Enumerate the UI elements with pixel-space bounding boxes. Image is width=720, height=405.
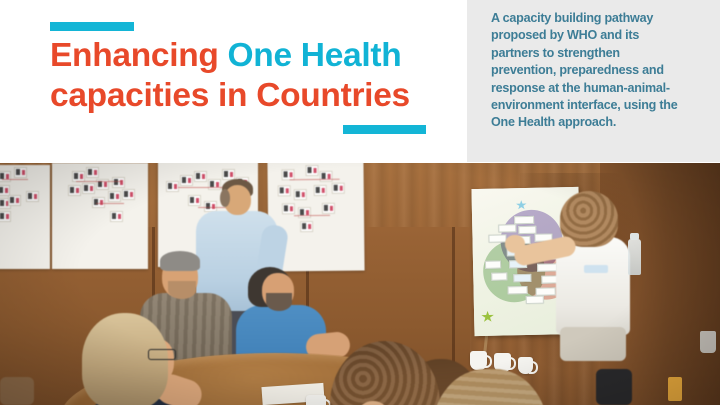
coffee-mug	[518, 357, 533, 374]
accent-bar-top	[50, 22, 134, 31]
striped-shirt-chin	[168, 281, 196, 299]
summary-text: A capacity building pathway proposed by …	[491, 9, 688, 131]
striped-shirt-hair	[160, 251, 200, 271]
summary-panel: A capacity building pathway proposed by …	[467, 0, 720, 162]
title-block: Enhancing One Health capacities in Count…	[50, 0, 450, 163]
chair	[0, 377, 34, 405]
poster-page: Enhancing One Health capacities in Count…	[0, 0, 720, 405]
chair	[596, 369, 632, 405]
presenter-skirt	[560, 327, 626, 361]
accent-bar-bottom	[343, 125, 426, 134]
coffee-mug	[306, 395, 326, 405]
coffee-mug	[470, 351, 487, 370]
page-title-line-1: Enhancing One Health	[50, 36, 450, 76]
presenter-hand	[505, 235, 525, 253]
sticky-note	[536, 287, 556, 295]
drinking-glass	[700, 331, 716, 353]
juice-glass	[668, 377, 682, 401]
sticky-note	[485, 261, 501, 269]
header-band: Enhancing One Health capacities in Count…	[0, 0, 720, 163]
standing-man-hair-side	[220, 189, 230, 207]
water-bottle	[628, 239, 641, 275]
flipchart-sheet	[0, 165, 50, 269]
sticky-note	[514, 216, 534, 224]
page-title: Enhancing One Health capacities in Count…	[50, 36, 450, 116]
page-title-line-1-orange: Enhancing	[50, 37, 228, 74]
workshop-photo	[0, 163, 720, 405]
presenter-badge	[584, 265, 608, 273]
sticky-note	[488, 234, 506, 242]
sticky-note	[508, 286, 528, 294]
blue-tshirt-beard	[266, 293, 292, 311]
page-title-line-1-teal: One Health	[228, 37, 402, 74]
sticky-note	[513, 274, 531, 282]
page-title-line-2: capacities in Countries	[50, 76, 450, 116]
sticky-note	[526, 296, 544, 304]
eyeglasses	[148, 349, 176, 360]
bottle-cap	[630, 233, 639, 240]
flipchart-sheet	[52, 163, 148, 269]
sticky-note	[498, 224, 516, 232]
sticky-note	[491, 272, 507, 280]
sticky-note	[537, 263, 557, 271]
